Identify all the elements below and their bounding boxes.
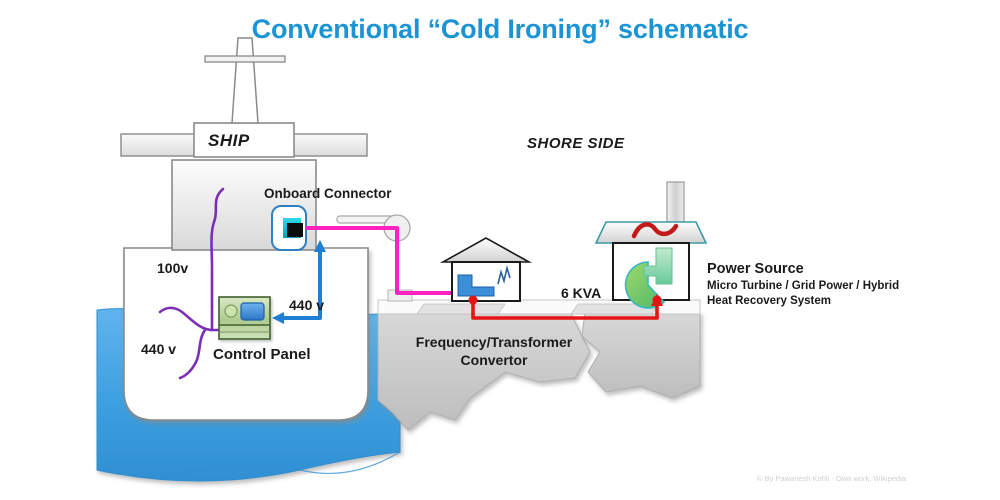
power-source-line1: Micro Turbine / Grid Power / Hybrid xyxy=(707,280,899,292)
converter-label-line2: Convertor xyxy=(461,352,528,368)
power-source-title: Power Source xyxy=(707,261,804,277)
power-source-subtitle: Micro Turbine / Grid Power / Hybrid Heat… xyxy=(707,279,899,309)
schematic-canvas: Conventional “Cold Ironing” schematic SH… xyxy=(0,0,1000,500)
ship-mast-icon xyxy=(205,38,285,123)
onboard-connector-label: Onboard Connector xyxy=(264,186,392,201)
page-title: Conventional “Cold Ironing” schematic xyxy=(0,14,1000,45)
shore-side-label: SHORE SIDE xyxy=(527,135,625,152)
voltage-100v-label: 100v xyxy=(157,260,188,276)
voltage-440v-hull-label: 440 v xyxy=(141,341,176,357)
voltage-440v-panel-label: 440 v xyxy=(289,297,324,313)
control-panel-icon[interactable] xyxy=(219,297,270,339)
power-source-building xyxy=(596,182,706,308)
cable-node-conv xyxy=(469,296,478,305)
chimney-icon xyxy=(667,182,684,222)
control-panel-label: Control Panel xyxy=(213,346,311,363)
transformer-building xyxy=(443,238,529,301)
converter-label: Frequency/Transformer Convertor xyxy=(414,333,574,370)
attribution-credit: © By Pawanesh Kohli - Own work, Wikipedi… xyxy=(757,474,906,483)
kva-label: 6 KVA xyxy=(561,285,601,301)
onboard-connector-icon[interactable] xyxy=(272,206,306,250)
converter-label-line1: Frequency/Transformer xyxy=(416,334,572,350)
cold-ironing-diagram xyxy=(0,0,1000,500)
power-source-line2: Heat Recovery System xyxy=(707,295,831,307)
ship-label: SHIP xyxy=(208,131,250,151)
